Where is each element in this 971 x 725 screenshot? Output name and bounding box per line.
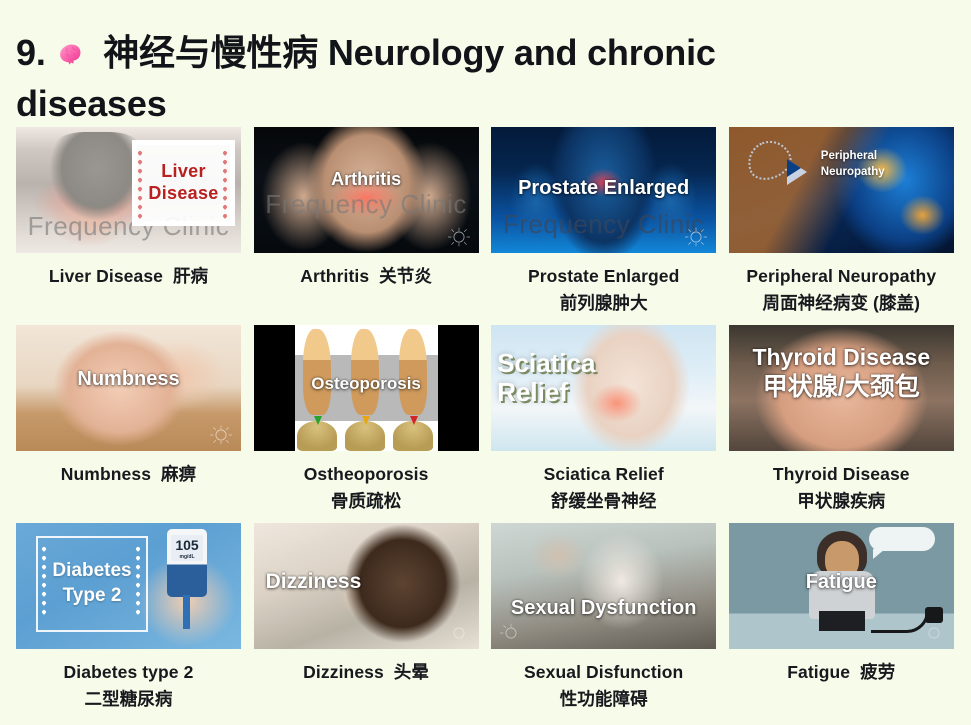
- plug-icon: [925, 607, 943, 623]
- caption-diabetes-type-2: Diabetes type 2 二型糖尿病: [13, 659, 245, 721]
- brand-logo-icon: [498, 622, 524, 644]
- caption-chinese: 关节炎: [379, 266, 432, 286]
- heart-dots-right: [223, 146, 229, 220]
- overlay-panel: Liver Disease: [132, 140, 235, 226]
- skirt-shape: [819, 611, 865, 631]
- card-arthritis[interactable]: Arthritis Frequency Clinic Arthritis 关节炎: [254, 127, 479, 325]
- caption-sexual-disfunction: Sexual Disfunction 性功能障碍: [488, 659, 720, 721]
- caption-chinese: 麻痹: [161, 464, 196, 484]
- card-sexual-disfunction[interactable]: Sexual Dysfunction Sexual Disfunction 性功…: [491, 523, 716, 721]
- caption-numbness: Numbness 麻痹: [13, 461, 245, 523]
- caption-english: Peripheral Neuropathy: [725, 263, 957, 290]
- caption-english: Sexual Disfunction: [488, 659, 720, 686]
- overlay-text: Fatigue: [729, 571, 954, 593]
- watermark-frequency-clinic: Frequency Clinic: [254, 189, 479, 220]
- thumbnail-peripheral-neuropathy[interactable]: Peripheral Neuropathy: [729, 127, 954, 253]
- card-ostheoporosis[interactable]: Osteoporosis Ostheoporosis 骨质疏松: [254, 325, 479, 523]
- card-sciatica-relief[interactable]: Sciatica Relief Sciatica Relief 舒缓坐骨神经: [491, 325, 716, 523]
- thumbnail-liver-disease[interactable]: Frequency Clinic Liver Disease: [16, 127, 241, 253]
- overlay-text-line2: Disease: [148, 183, 218, 205]
- caption-english: Dizziness: [303, 662, 384, 682]
- card-fatigue[interactable]: Fatigue Fatigue 疲劳: [729, 523, 954, 721]
- thumbnail-sciatica-relief[interactable]: Sciatica Relief: [491, 325, 716, 451]
- caption-english: Fatigue: [787, 662, 850, 682]
- overlay-text: Thyroid Disease 甲状腺/大颈包: [729, 345, 954, 401]
- glucometer-value: 105: [175, 537, 198, 553]
- card-prostate-enlarged[interactable]: Prostate Enlarged Frequency Clinic Prost…: [491, 127, 716, 325]
- brand-logo-icon: [683, 226, 709, 248]
- caption-chinese: 周面神经病变 (膝盖): [725, 290, 957, 317]
- page-title-number: 9.: [16, 32, 46, 73]
- caption-chinese: 疲劳: [860, 662, 895, 682]
- caption-chinese: 前列腺肿大: [488, 290, 720, 317]
- brand-logo-icon: [446, 622, 472, 644]
- thumbnail-sexual-disfunction[interactable]: Sexual Dysfunction: [491, 523, 716, 649]
- overlay-text: Sexual Dysfunction: [491, 597, 716, 619]
- thumbnail-fatigue[interactable]: Fatigue: [729, 523, 954, 649]
- caption-english: Diabetes type 2: [13, 659, 245, 686]
- heart-dots-left: [138, 146, 144, 220]
- caption-chinese: 性功能障碍: [488, 686, 720, 713]
- caption-arthritis: Arthritis 关节炎: [250, 263, 482, 325]
- caption-english: Liver Disease: [49, 266, 163, 286]
- brain-icon: [57, 35, 87, 81]
- overlay-text: Prostate Enlarged: [491, 177, 716, 199]
- caption-ostheoporosis: Ostheoporosis 骨质疏松: [250, 461, 482, 523]
- caption-english: Thyroid Disease: [725, 461, 957, 488]
- card-peripheral-neuropathy[interactable]: Peripheral Neuropathy Peripheral Neuropa…: [729, 127, 954, 325]
- thumbnail-thyroid-disease[interactable]: Thyroid Disease 甲状腺/大颈包: [729, 325, 954, 451]
- caption-chinese: 骨质疏松: [250, 488, 482, 515]
- card-dizziness[interactable]: Dizziness Dizziness 头晕: [254, 523, 479, 721]
- overlay-text: Numbness: [16, 368, 241, 390]
- caption-english: Prostate Enlarged: [488, 263, 720, 290]
- overlay-text-line1: Thyroid Disease: [729, 345, 954, 371]
- page-title-chinese: 神经与慢性病: [103, 32, 318, 73]
- card-numbness[interactable]: Numbness Numbness 麻痹: [16, 325, 241, 523]
- glucometer-icon: 105 mg/dL: [167, 529, 207, 597]
- caption-prostate-enlarged: Prostate Enlarged 前列腺肿大: [488, 263, 720, 325]
- card-diabetes-type-2[interactable]: 105 mg/dL Diabetes Type 2 Diabetes type …: [16, 523, 241, 721]
- disease-card-grid: Frequency Clinic Liver Disease Liver Dis…: [16, 127, 954, 721]
- overlay-text-line1: Sciatica: [497, 349, 595, 378]
- test-strip: [183, 595, 190, 629]
- thumbnail-image: [491, 523, 716, 649]
- overlay-panel: Diabetes Type 2: [36, 536, 148, 632]
- glucometer-reading: 105 mg/dL: [171, 535, 203, 561]
- brand-logo-icon: [921, 622, 947, 644]
- caption-chinese: 二型糖尿病: [13, 686, 245, 713]
- glucometer-unit: mg/dL: [171, 555, 203, 560]
- caption-liver-disease: Liver Disease 肝病: [13, 263, 245, 325]
- brand-logo-icon: [446, 226, 472, 248]
- page-title: 9. 神经与慢性病 Neurolog: [16, 30, 846, 127]
- thumbnail-diabetes-type-2[interactable]: 105 mg/dL Diabetes Type 2: [16, 523, 241, 649]
- caption-english: Arthritis: [300, 266, 369, 286]
- caption-chinese: 肝病: [173, 266, 208, 286]
- overlay-text-line2: 甲状腺/大颈包: [729, 373, 954, 401]
- caption-chinese: 头晕: [394, 662, 429, 682]
- heart-dots-left: [42, 542, 48, 626]
- caption-english: Sciatica Relief: [488, 461, 720, 488]
- overlay-text-line1: Diabetes: [52, 559, 131, 584]
- overlay-text: Osteoporosis: [254, 374, 479, 393]
- overlay-text: Sciatica Relief: [497, 349, 595, 407]
- overlay-text: Dizziness: [266, 570, 362, 594]
- caption-sciatica-relief: Sciatica Relief 舒缓坐骨神经: [488, 461, 720, 523]
- caption-chinese: 舒缓坐骨神经: [488, 488, 720, 515]
- caption-fatigue: Fatigue 疲劳: [725, 659, 957, 721]
- thumbnail-prostate-enlarged[interactable]: Prostate Enlarged Frequency Clinic: [491, 127, 716, 253]
- overlay-text-line1: Peripheral: [821, 149, 907, 165]
- speech-bubble-icon: [869, 527, 935, 551]
- caption-dizziness: Dizziness 头晕: [250, 659, 482, 721]
- overlay-text-line2: Relief: [497, 378, 595, 407]
- thumbnail-dizziness[interactable]: Dizziness: [254, 523, 479, 649]
- card-liver-disease[interactable]: Frequency Clinic Liver Disease Liver Dis…: [16, 127, 241, 325]
- play-triangle-icon: [787, 159, 807, 185]
- overlay-text: Peripheral Neuropathy: [821, 149, 907, 180]
- page-root: 9. 神经与慢性病 Neurolog: [0, 0, 971, 725]
- overlay-text-line1: Liver: [161, 161, 206, 183]
- caption-english: Numbness: [61, 464, 151, 484]
- caption-peripheral-neuropathy: Peripheral Neuropathy 周面神经病变 (膝盖): [725, 263, 957, 325]
- overlay-text-line2: Type 2: [63, 584, 122, 609]
- thumbnail-numbness[interactable]: Numbness: [16, 325, 241, 451]
- brand-logo-icon: [208, 424, 234, 446]
- caption-thyroid-disease: Thyroid Disease 甲状腺疾病: [725, 461, 957, 523]
- thumbnail-ostheoporosis[interactable]: Osteoporosis: [254, 325, 479, 451]
- caption-chinese: 甲状腺疾病: [725, 488, 957, 515]
- heart-dots-right: [136, 542, 142, 626]
- card-thyroid-disease[interactable]: Thyroid Disease 甲状腺/大颈包 Thyroid Disease …: [729, 325, 954, 523]
- overlay-text: Arthritis: [254, 169, 479, 189]
- overlay-text-line2: Neuropathy: [821, 165, 907, 181]
- caption-english: Ostheoporosis: [250, 461, 482, 488]
- thumbnail-arthritis[interactable]: Arthritis Frequency Clinic: [254, 127, 479, 253]
